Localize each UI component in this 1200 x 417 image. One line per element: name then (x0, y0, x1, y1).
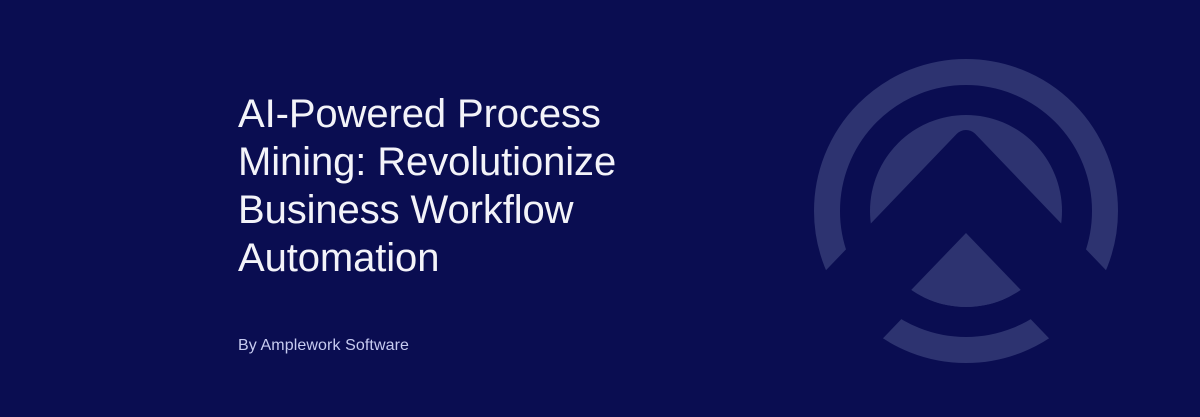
article-hero-banner: AI-Powered Process Mining: Revolutionize… (0, 0, 1200, 417)
byline: By Amplework Software (238, 335, 409, 357)
hero-text-column: AI-Powered Process Mining: Revolutionize… (238, 0, 708, 417)
page-title: AI-Powered Process Mining: Revolutionize… (238, 90, 690, 282)
amplework-logo-icon (806, 47, 1126, 375)
